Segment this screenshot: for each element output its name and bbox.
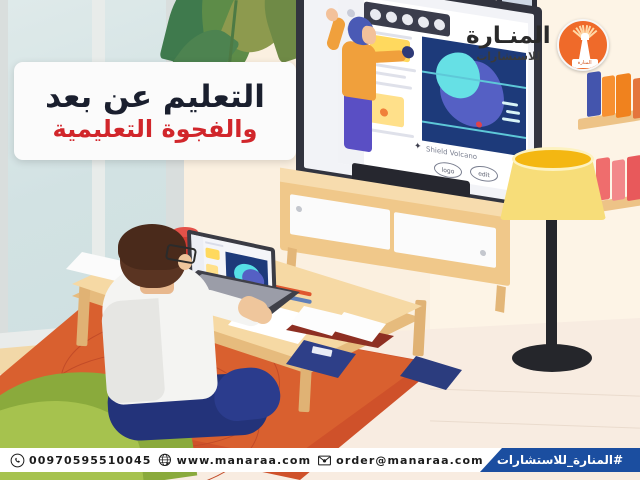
lamp-pole [546, 214, 557, 354]
badge-label: المنارة [574, 60, 596, 66]
shelf-book [587, 71, 601, 117]
poster-canvas: ✦ Shield Volcano logo edit [0, 0, 640, 480]
drawer-knob [480, 250, 486, 257]
brand-logo[interactable]: المنـارة للاستشارات المنارة [466, 14, 632, 76]
presenter-torso [342, 40, 376, 101]
whatsapp-icon [10, 453, 25, 468]
email-address: order@manaraa.com [336, 454, 484, 467]
hero-dash [502, 117, 520, 123]
lamp-base [512, 344, 592, 372]
person-hand [254, 306, 272, 324]
thumbnail-dot-icon [380, 108, 388, 117]
title-card: التعليم عن بعد والفجوة التعليمية [14, 62, 296, 160]
contact-email[interactable]: order@manaraa.com [317, 453, 484, 468]
shelf-book [602, 75, 615, 117]
page-subtitle: والفجوة التعليمية [53, 116, 258, 142]
drawer-knob [296, 206, 302, 213]
lamp-shade-opening [512, 147, 594, 171]
website-url: www.manaraa.com [177, 454, 312, 467]
hashtag-text: #المنارة_للاستشارات [497, 453, 623, 467]
brand-tagline: للاستشارات [466, 48, 551, 66]
globe-icon [158, 453, 173, 468]
hero-marker-dot [476, 121, 482, 128]
presenter-face [362, 25, 376, 45]
page-title: التعليم عن بعد [45, 80, 265, 114]
contact-footer: 00970595510045 www.manaraa.com [0, 446, 640, 480]
console-leg [495, 285, 506, 313]
envelope-icon [317, 453, 332, 468]
laptop-slide-card [205, 247, 219, 260]
hashtag-banner[interactable]: #المنارة_للاستشارات [480, 448, 640, 472]
shelf-book [612, 159, 625, 201]
brand-name: المنـارة [466, 25, 551, 48]
lighthouse-lantern [581, 33, 589, 40]
hero-dash [506, 110, 520, 115]
laptop-text-line [205, 241, 223, 247]
phone-number: 00970595510045 [29, 454, 152, 467]
brand-logo-text: المنـارة للاستشارات [466, 25, 551, 66]
hero-dash [502, 101, 518, 107]
star-icon: ✦ [414, 141, 422, 152]
lighthouse-icon: المنارة [557, 19, 609, 71]
contact-phone[interactable]: 00970595510045 [10, 453, 152, 468]
contact-bar: 00970595510045 www.manaraa.com [0, 448, 520, 472]
lighthouse-tower [579, 39, 591, 61]
contact-website[interactable]: www.manaraa.com [158, 453, 312, 468]
person-shirt-shadow [101, 298, 166, 404]
presenter-hand [326, 7, 338, 22]
shelf-book [633, 77, 640, 119]
presenter-legs [344, 92, 372, 152]
shelf-book [627, 155, 640, 201]
shelf-book [616, 73, 631, 118]
